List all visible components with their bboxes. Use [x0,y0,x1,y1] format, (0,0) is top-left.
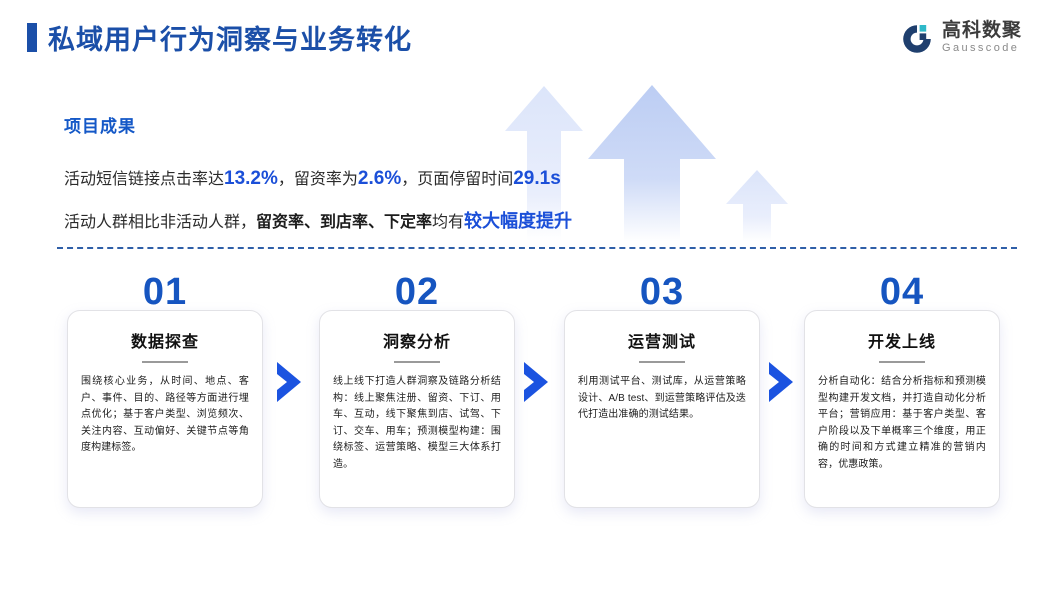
step-card-04[interactable]: 04 开发上线 分析自动化：结合分析指标和预测模型构建开发文档，并打造自动化分析… [804,272,1000,512]
step-title-rule [394,361,440,363]
process-steps: 01 数据探查 围绕核心业务，从时间、地点、客户、事件、目的、路径等方面进行埋点… [0,272,1048,522]
step-title: 数据探查 [68,328,262,352]
step-card-body[interactable]: 运营测试 利用测试平台、测试库，从运营策略设计、A/B test、到运营策略评估… [564,310,760,508]
chevron-right-icon-3 [766,360,796,404]
result-line-1: 活动短信链接点击率达13.2%，留资率为2.6%，页面停留时间29.1s [64,164,764,195]
result-line-2-highlight: 较大幅度提升 [464,211,572,231]
metric-lead-rate: 2.6% [358,168,401,189]
metric-click-rate: 13.2% [224,168,278,189]
step-number: 01 [67,272,263,312]
title-accent-bar [27,23,37,52]
dashed-divider [57,247,1017,249]
chevron-right-icon-2 [521,360,551,404]
result-line-2-text-1: 活动人群相比非活动人群， [64,214,256,231]
step-title: 洞察分析 [320,328,514,352]
step-description: 利用测试平台、测试库，从运营策略设计、A/B test、到运营策略评估及迭代打造… [578,374,746,424]
result-line-2-text-2: 均有 [432,214,464,231]
step-title-rule [879,361,925,363]
result-line-2: 活动人群相比非活动人群，留资率、到店率、下定率均有较大幅度提升 [64,206,764,238]
step-card-body[interactable]: 洞察分析 线上线下打造人群洞察及链路分析结构：线上聚焦注册、留资、下订、用车、互… [319,310,515,508]
step-description: 围绕核心业务，从时间、地点、客户、事件、目的、路径等方面进行埋点优化；基于客户类… [81,374,249,457]
step-card-03[interactable]: 03 运营测试 利用测试平台、测试库，从运营策略设计、A/B test、到运营策… [564,272,760,512]
step-card-body[interactable]: 开发上线 分析自动化：结合分析指标和预测模型构建开发文档，并打造自动化分析平台；… [804,310,1000,508]
chevron-right-icon-1 [274,360,304,404]
step-title-rule [639,361,685,363]
slide-root: 私域用户行为洞察与业务转化 高科数聚 Gausscode [0,0,1048,591]
step-card-body[interactable]: 数据探查 围绕核心业务，从时间、地点、客户、事件、目的、路径等方面进行埋点优化；… [67,310,263,508]
logo-text-block: 高科数聚 Gausscode [942,20,1034,56]
step-card-02[interactable]: 02 洞察分析 线上线下打造人群洞察及链路分析结构：线上聚焦注册、留资、下订、用… [319,272,515,512]
step-number: 03 [564,272,760,312]
step-title: 运营测试 [565,328,759,352]
step-title-rule [142,361,188,363]
logo-name-cn: 高科数聚 [942,20,1034,41]
result-line-1-text-1: 活动短信链接点击率达 [64,171,224,188]
page-title: 私域用户行为洞察与业务转化 [48,18,412,57]
results-heading: 项目成果 [64,112,764,137]
step-number: 04 [804,272,1000,312]
step-number: 02 [319,272,515,312]
metric-dwell-time: 29.1s [513,168,561,189]
result-line-1-text-3: ，页面停留时间 [401,171,513,188]
step-title: 开发上线 [805,328,999,352]
gausscode-g-logo-icon [900,22,934,56]
company-logo: 高科数聚 Gausscode [900,20,1032,60]
project-results-block: 项目成果 活动短信链接点击率达13.2%，留资率为2.6%，页面停留时间29.1… [64,112,764,249]
step-description: 分析自动化：结合分析指标和预测模型构建开发文档，并打造自动化分析平台；营销应用：… [818,374,986,473]
slide-header: 私域用户行为洞察与业务转化 高科数聚 Gausscode [0,0,1048,76]
step-card-01[interactable]: 01 数据探查 围绕核心业务，从时间、地点、客户、事件、目的、路径等方面进行埋点… [67,272,263,512]
result-line-1-text-2: ，留资率为 [278,171,358,188]
result-line-2-bold-metrics: 留资率、到店率、下定率 [256,214,432,231]
step-description: 线上线下打造人群洞察及链路分析结构：线上聚焦注册、留资、下订、用车、互动，线下聚… [333,374,501,473]
logo-name-en: Gausscode [942,41,1034,56]
